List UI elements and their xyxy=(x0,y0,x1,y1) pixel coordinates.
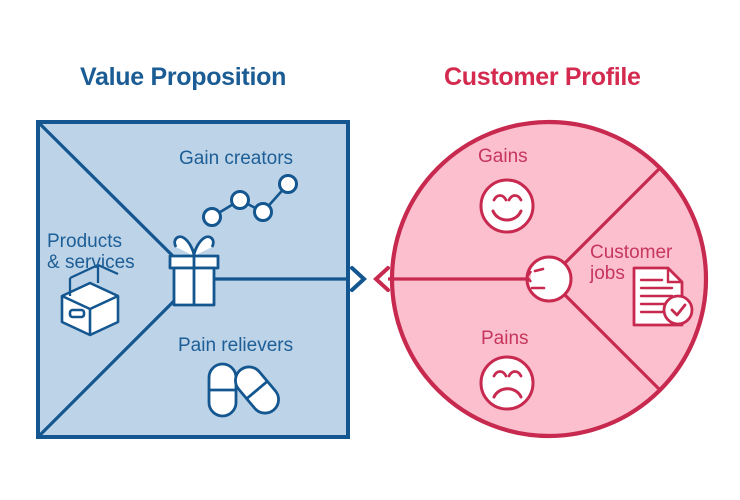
label-products-and-services: Products & services xyxy=(47,231,135,273)
connector-arrow-right xyxy=(376,268,388,290)
label-products-line2: & services xyxy=(47,252,135,273)
connector-arrow-left xyxy=(352,268,364,290)
label-customer-jobs-line2: jobs xyxy=(590,263,672,284)
label-products-line1: Products xyxy=(47,231,135,252)
label-customer-jobs-line1: Customer xyxy=(590,242,672,263)
label-pains: Pains xyxy=(481,328,529,349)
label-customer-jobs: Customer jobs xyxy=(590,242,672,284)
value-proposition-canvas: Value Proposition Customer Profile Gain … xyxy=(0,0,740,500)
customer-head-icon xyxy=(527,257,571,301)
page-title-customer-profile: Customer Profile xyxy=(444,63,641,92)
smiley-happy-icon xyxy=(481,180,533,232)
label-gains: Gains xyxy=(478,146,528,167)
fit-connector xyxy=(352,268,388,290)
page-title-value-proposition: Value Proposition xyxy=(80,63,286,92)
label-gain-creators: Gain creators xyxy=(179,148,293,169)
smiley-sad-icon xyxy=(481,357,533,409)
label-pain-relievers: Pain relievers xyxy=(178,335,293,356)
